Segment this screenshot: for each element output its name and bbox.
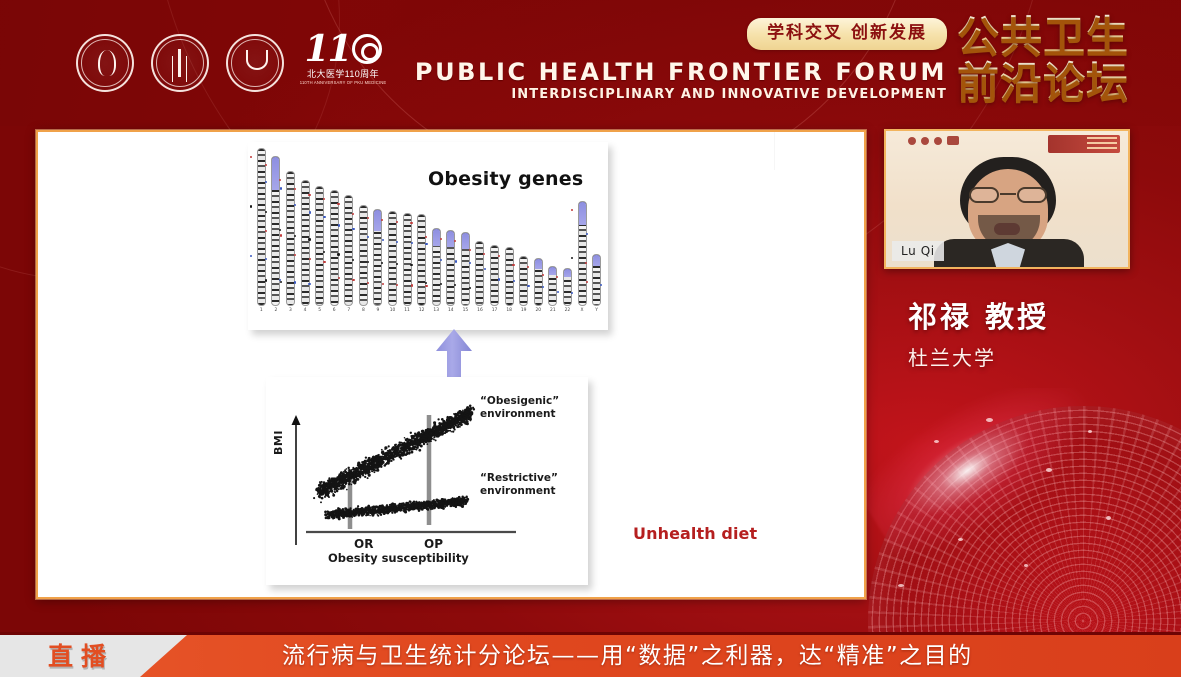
gene-marker-dot — [455, 260, 457, 262]
scatter-point-obesigenic — [410, 432, 412, 434]
scatter-point-restrictive — [409, 500, 411, 502]
gene-marker-dot — [308, 283, 310, 285]
chromosome-band-column — [403, 213, 412, 306]
scatter-point-restrictive — [371, 506, 373, 508]
scatter-point-restrictive — [426, 500, 428, 502]
scatter-point-obesigenic — [327, 486, 330, 489]
chromosome-label: Y — [595, 308, 598, 314]
chromosome-highlight-cap — [593, 255, 600, 266]
scatter-point-restrictive — [401, 505, 403, 507]
scatter-point-restrictive — [338, 517, 341, 520]
scatter-point-restrictive — [393, 508, 395, 510]
gene-marker-dot — [280, 187, 282, 189]
scatter-point-restrictive — [433, 506, 436, 509]
scatter-point-obesigenic — [334, 487, 335, 488]
gene-marker-dot — [512, 264, 514, 266]
chromosome-label: 21 — [550, 308, 556, 314]
chromosome-label: 13 — [433, 308, 439, 314]
scatter-point-obesigenic — [352, 467, 354, 469]
chromosome-label: 11 — [404, 308, 410, 314]
scatter-point-restrictive — [327, 510, 329, 512]
scatter-point-restrictive — [357, 505, 359, 507]
chromosome-label: 6 — [333, 308, 336, 314]
backdrop-seal-icon — [934, 137, 942, 145]
scatter-point-restrictive — [347, 514, 350, 517]
scatter-point-restrictive — [331, 512, 333, 514]
scatter-point-obesigenic — [414, 433, 416, 435]
scatter-point-obesigenic — [417, 436, 419, 438]
scatter-point-restrictive — [435, 504, 437, 506]
scatter-point-obesigenic — [376, 464, 378, 466]
scatter-point-obesigenic — [458, 415, 460, 417]
scatter-point-obesigenic — [368, 467, 371, 470]
scatter-point-obesigenic — [393, 459, 395, 461]
scatter-point-obesigenic — [343, 480, 346, 483]
scatter-point-obesigenic — [426, 443, 428, 445]
scatter-point-obesigenic — [463, 411, 465, 413]
scatter-point-obesigenic — [349, 474, 352, 477]
scatter-point-obesigenic — [408, 452, 411, 455]
scatter-point-obesigenic — [317, 487, 319, 489]
scatter-point-obesigenic — [434, 423, 436, 425]
scatter-point-obesigenic — [452, 430, 454, 432]
chromosome-22: 22 — [560, 268, 575, 314]
peking-university-seal-icon — [76, 34, 134, 92]
scatter-point-obesigenic — [422, 432, 425, 435]
scatter-point-obesigenic — [363, 465, 366, 468]
scatter-point-obesigenic — [397, 449, 399, 451]
gene-marker-dot — [527, 285, 529, 287]
chromosome-band-column — [461, 232, 470, 306]
scatter-point-restrictive — [457, 502, 458, 503]
scatter-point-obesigenic — [420, 445, 423, 448]
scatter-point-restrictive — [385, 508, 388, 511]
scatter-point-obesigenic — [395, 446, 398, 449]
globe-spark — [934, 440, 939, 443]
speaker-organization: 杜兰大学 — [908, 346, 1168, 370]
logo-row: 11 北大医学110周年 110TH ANNIVERSARY OF PKU ME… — [76, 32, 385, 94]
gene-marker-dot — [338, 277, 340, 279]
scatter-point-obesigenic — [430, 431, 432, 433]
scatter-point-obesigenic — [328, 496, 330, 498]
globe-spark — [1106, 516, 1111, 520]
scatter-point-restrictive — [379, 505, 382, 508]
scatter-point-obesigenic — [420, 434, 423, 437]
scatter-point-obesigenic — [358, 472, 360, 474]
gene-marker-dot — [382, 283, 384, 285]
chromosome-label: 2 — [274, 308, 277, 314]
scatter-point-obesigenic — [426, 431, 428, 433]
scatter-point-obesigenic — [353, 471, 355, 473]
scatter-label-obesigenic: “Obesigenic” environment — [480, 395, 559, 421]
globe-spark — [986, 418, 993, 422]
gene-marker-dot — [410, 222, 412, 224]
scatter-point-obesigenic — [336, 489, 337, 490]
scatter-point-restrictive — [410, 503, 412, 505]
scatter-point-obesigenic — [453, 428, 455, 430]
scatter-point-obesigenic — [422, 441, 425, 444]
chromosome-band-column — [534, 258, 543, 306]
scatter-point-obesigenic — [417, 442, 420, 445]
forum-title-english-primary: PUBLIC HEALTH FRONTIER FORUM — [415, 59, 947, 85]
scatter-point-obesigenic — [388, 445, 390, 447]
anniversary-ring-icon — [352, 34, 382, 64]
chromosome-label: 4 — [304, 308, 307, 314]
scatter-point-obesigenic — [364, 476, 366, 478]
scatter-point-restrictive — [445, 503, 447, 505]
chromosome-12: 12 — [414, 214, 429, 314]
scatter-point-restrictive — [457, 499, 460, 502]
page-header: 11 北大医学110周年 110TH ANNIVERSARY OF PKU ME… — [0, 0, 1181, 120]
scatter-point-obesigenic — [375, 455, 378, 458]
gene-marker-dot — [265, 230, 267, 232]
scatter-point-obesigenic — [328, 491, 329, 492]
scatter-point-obesigenic — [465, 418, 468, 421]
speaker-info: 祁禄 教授 杜兰大学 — [908, 300, 1168, 370]
scatter-point-obesigenic — [438, 422, 440, 424]
gene-marker-dot — [250, 205, 252, 207]
scatter-point-restrictive — [408, 509, 409, 510]
scatter-label-restrictive: “Restrictive” environment — [480, 472, 558, 498]
scatter-point-obesigenic — [396, 453, 399, 456]
scatter-point-restrictive — [397, 508, 400, 511]
video-backdrop-logos — [908, 136, 959, 145]
scatter-point-restrictive — [325, 517, 328, 520]
scatter-point-obesigenic — [436, 433, 438, 435]
gene-marker-dot — [250, 255, 252, 257]
speaker-video-tile[interactable]: Lu Qi — [884, 129, 1130, 269]
gene-marker-dot — [337, 203, 339, 205]
scatter-point-restrictive — [405, 502, 408, 505]
scatter-point-obesigenic — [400, 458, 402, 460]
anniversary-logo: 11 北大医学110周年 110TH ANNIVERSARY OF PKU ME… — [301, 32, 385, 94]
forum-title-chinese: 公共卫生 前沿论坛 — [957, 14, 1129, 106]
scatter-point-obesigenic — [415, 440, 417, 442]
scatter-point-obesigenic — [381, 449, 383, 451]
scatter-point-obesigenic — [405, 443, 407, 445]
scatter-point-restrictive — [368, 505, 369, 506]
backdrop-seal-icon — [908, 137, 916, 145]
gene-marker-dot — [338, 224, 340, 226]
scatter-point-obesigenic — [398, 450, 401, 453]
scatter-point-obesigenic — [465, 411, 468, 414]
scatter-point-obesigenic — [444, 428, 446, 430]
chromosome-15: 15 — [458, 232, 473, 314]
chromosome-band-column — [373, 209, 382, 306]
chromosome-label: 8 — [362, 308, 365, 314]
broadcast-stage: 11 北大医学110周年 110TH ANNIVERSARY OF PKU ME… — [0, 0, 1181, 677]
chromosome-band-column — [359, 205, 368, 306]
scatter-point-restrictive — [365, 514, 367, 516]
chromosome-Y: Y — [589, 254, 604, 314]
scatter-point-obesigenic — [367, 471, 370, 474]
scatter-point-obesigenic — [415, 447, 416, 448]
scatter-point-restrictive — [429, 506, 432, 509]
scatter-point-obesigenic — [463, 414, 465, 416]
scatter-point-obesigenic — [327, 489, 329, 491]
scatter-point-obesigenic — [381, 455, 383, 457]
gene-marker-dot — [600, 284, 602, 286]
scatter-point-obesigenic — [391, 460, 393, 462]
scatter-point-restrictive — [455, 500, 457, 502]
gene-marker-dot — [440, 238, 442, 240]
backdrop-anniversary-icon — [947, 136, 959, 145]
gene-marker-dot — [367, 217, 369, 219]
scatter-point-obesigenic — [330, 490, 333, 493]
scatter-point-restrictive — [393, 504, 396, 507]
gene-marker-dot — [250, 156, 252, 158]
scatter-point-restrictive — [338, 509, 340, 511]
scatter-point-obesigenic — [408, 439, 411, 442]
scatter-point-restrictive — [452, 502, 455, 505]
scatter-point-restrictive — [448, 501, 450, 503]
peking-university-health-science-center-seal-icon — [151, 34, 209, 92]
forum-title-chinese-line2: 前沿论坛 — [957, 60, 1129, 106]
glasses-left-lens — [969, 187, 999, 203]
scatter-point-obesigenic — [384, 456, 387, 459]
chromosome-band-column — [548, 266, 557, 306]
scatter-point-obesigenic — [470, 413, 473, 416]
scatter-point-obesigenic — [371, 461, 372, 462]
scatter-point-obesigenic — [376, 469, 379, 472]
scatter-point-restrictive — [437, 503, 439, 505]
scatter-xtick-op: OP — [424, 537, 443, 551]
gene-marker-dot — [367, 236, 369, 238]
chromosome-label: 22 — [565, 308, 571, 314]
scatter-point-obesigenic — [346, 472, 348, 474]
scatter-point-obesigenic — [333, 479, 335, 481]
scatter-point-restrictive — [463, 500, 465, 502]
chromosome-band-column — [257, 148, 266, 306]
chromosome-label: 17 — [492, 308, 498, 314]
scatter-point-restrictive — [352, 516, 353, 517]
gene-marker-dot — [410, 264, 412, 266]
anniversary-mark: 11 — [304, 32, 381, 66]
annotation-unhealthy-diet: Unhealth diet — [633, 524, 757, 543]
scatter-point-restrictive — [370, 508, 372, 510]
live-badge: 直播 — [48, 643, 114, 670]
scatter-point-obesigenic — [378, 465, 380, 467]
scatter-point-obesigenic — [440, 426, 442, 428]
scatter-point-obesigenic — [319, 493, 322, 496]
gene-marker-dot — [294, 281, 296, 283]
scatter-point-obesigenic — [432, 430, 434, 432]
scatter-point-obesigenic — [321, 481, 323, 483]
gene-marker-dot — [308, 238, 310, 240]
scatter-point-obesigenic — [384, 446, 387, 449]
scatter-point-obesigenic — [410, 451, 413, 454]
scatter-point-obesigenic — [392, 456, 394, 458]
scatter-point-restrictive — [416, 504, 419, 507]
scatter-point-restrictive — [421, 508, 424, 511]
scatter-point-obesigenic — [395, 451, 397, 453]
chromosome-band-column — [592, 254, 601, 306]
chromosome-label: 5 — [318, 308, 321, 314]
globe-spark — [1088, 430, 1092, 433]
scatter-point-obesigenic — [460, 423, 463, 426]
chromosome-label: 3 — [289, 308, 292, 314]
gene-marker-dot — [557, 291, 559, 293]
gene-marker-dot — [498, 278, 500, 280]
scatter-point-obesigenic — [395, 444, 397, 446]
scatter-point-restrictive — [328, 515, 330, 517]
scatter-point-obesigenic — [321, 497, 324, 500]
scatter-point-restrictive — [345, 510, 347, 512]
scatter-point-obesigenic — [405, 438, 408, 441]
chromosome-band-column — [286, 171, 295, 306]
chromosome-highlight-cap — [564, 269, 571, 277]
scatter-point-obesigenic — [346, 489, 348, 491]
presentation-slide[interactable]: Obesity genes 12345678910111213141516171… — [36, 130, 866, 599]
scatter-point-obesigenic — [427, 428, 430, 431]
scatter-point-obesigenic — [454, 421, 456, 423]
chromosome-1: 1 — [254, 148, 269, 314]
scatter-point-restrictive — [377, 515, 379, 517]
scatter-point-restrictive — [342, 516, 345, 519]
scatter-point-obesigenic — [473, 408, 476, 411]
scatter-point-restrictive — [366, 510, 368, 512]
scatter-point-restrictive — [375, 509, 377, 511]
scatter-point-restrictive — [349, 510, 352, 513]
chromosome-20: 20 — [531, 258, 546, 314]
scatter-point-restrictive — [430, 503, 432, 505]
scatter-point-restrictive — [349, 507, 351, 509]
scatter-point-obesigenic — [334, 490, 336, 492]
scatter-point-obesigenic — [435, 439, 437, 441]
scatter-point-restrictive — [344, 507, 346, 509]
gene-marker-dot — [542, 274, 544, 276]
school-of-public-health-seal-icon — [226, 34, 284, 92]
gene-marker-dot — [323, 251, 325, 253]
scatter-point-obesigenic — [373, 458, 375, 460]
gene-marker-dot — [571, 292, 573, 294]
video-backdrop-brand — [1048, 135, 1120, 153]
scatter-point-obesigenic — [347, 475, 350, 478]
scatter-point-obesigenic — [448, 418, 450, 420]
scatter-point-restrictive — [403, 510, 406, 513]
scatter-point-obesigenic — [423, 439, 425, 441]
scatter-point-obesigenic — [415, 435, 416, 436]
karyotype-figure: Obesity genes 12345678910111213141516171… — [248, 142, 608, 330]
scatter-point-obesigenic — [385, 463, 387, 465]
chromosome-label: 9 — [377, 308, 380, 314]
scatter-point-restrictive — [391, 511, 393, 513]
scatter-point-obesigenic — [387, 460, 389, 462]
gene-marker-dot — [309, 258, 311, 260]
globe-decoration — [838, 388, 1181, 637]
chromosome-label: X — [581, 308, 584, 314]
scatter-point-obesigenic — [437, 418, 439, 420]
chromosome-19: 19 — [516, 256, 531, 314]
scatter-point-restrictive — [466, 498, 469, 501]
scatter-point-obesigenic — [361, 461, 363, 463]
scatter-label-restrictive-line1: “Restrictive” — [480, 472, 558, 485]
scatter-point-obesigenic — [430, 435, 433, 438]
scatter-point-restrictive — [377, 507, 379, 509]
scatter-point-obesigenic — [381, 464, 382, 465]
scatter-point-obesigenic — [447, 425, 450, 428]
chromosome-label: 7 — [347, 308, 350, 314]
scatter-point-obesigenic — [384, 453, 386, 455]
gene-marker-dot — [308, 194, 310, 196]
scatter-point-restrictive — [427, 508, 429, 510]
scatter-point-obesigenic — [404, 437, 406, 439]
scatter-point-obesigenic — [398, 441, 400, 443]
scatter-point-obesigenic — [376, 462, 378, 464]
backdrop-seal-icon — [921, 137, 929, 145]
scatter-point-obesigenic — [418, 449, 421, 452]
scatter-point-restrictive — [427, 504, 429, 506]
chromosome-X: X — [575, 201, 590, 314]
chromosome-8: 8 — [356, 205, 371, 314]
scatter-xtick-or: OR — [354, 537, 373, 551]
scatter-point-obesigenic — [367, 477, 369, 479]
gene-marker-dot — [411, 242, 413, 244]
scatter-point-obesigenic — [429, 440, 431, 442]
scatter-point-restrictive — [353, 510, 356, 513]
scatter-point-obesigenic — [347, 467, 349, 469]
chromosome-band-column — [344, 195, 353, 306]
scatter-point-restrictive — [458, 496, 460, 498]
scatter-point-obesigenic — [442, 433, 444, 435]
gene-marker-dot — [323, 261, 325, 263]
scatter-point-restrictive — [389, 506, 391, 508]
scatter-point-restrictive — [457, 503, 460, 506]
globe-spark — [958, 538, 963, 541]
scatter-point-obesigenic — [438, 434, 441, 437]
globe-spark — [1046, 468, 1052, 472]
scatter-point-obesigenic — [319, 496, 321, 498]
scatter-point-obesigenic — [351, 469, 353, 471]
chromosome-band-column — [301, 180, 310, 306]
gene-marker-dot — [411, 284, 413, 286]
scatter-point-obesigenic — [432, 438, 434, 440]
scatter-point-obesigenic — [317, 494, 318, 495]
globe-rim — [868, 406, 1181, 637]
chromosome-highlight-cap — [272, 157, 279, 190]
gene-marker-dot — [396, 284, 398, 286]
scatter-point-restrictive — [361, 514, 363, 516]
globe-light-streak — [845, 388, 1121, 575]
scatter-point-restrictive — [358, 509, 361, 512]
scatter-point-restrictive — [460, 499, 462, 501]
scatter-point-restrictive — [412, 506, 414, 508]
chromosome-16: 16 — [473, 241, 488, 314]
scatter-point-restrictive — [407, 509, 408, 510]
scatter-point-obesigenic — [353, 479, 356, 482]
gene-marker-dot — [382, 239, 384, 241]
scatter-point-obesigenic — [441, 418, 444, 421]
bmi-susceptibility-scatter-figure: “Obesigenic” environment “Restrictive” e… — [266, 377, 588, 585]
scatter-point-obesigenic — [456, 425, 459, 428]
scatter-point-obesigenic — [425, 438, 428, 441]
scatter-point-obesigenic — [450, 420, 451, 421]
scatter-point-obesigenic — [444, 432, 445, 433]
scatter-point-restrictive — [425, 503, 427, 505]
scatter-point-obesigenic — [371, 467, 373, 469]
chromosome-18: 18 — [502, 247, 517, 314]
scatter-point-obesigenic — [427, 434, 430, 437]
scatter-point-restrictive — [390, 503, 392, 505]
scatter-point-obesigenic — [343, 485, 346, 488]
scatter-point-obesigenic — [444, 423, 447, 426]
chromosome-band-column — [315, 186, 324, 306]
scatter-point-restrictive — [342, 511, 344, 513]
scatter-point-obesigenic — [440, 429, 443, 432]
scatter-point-obesigenic — [327, 480, 329, 482]
gene-marker-dot — [265, 164, 267, 166]
gene-marker-dot — [265, 258, 267, 260]
